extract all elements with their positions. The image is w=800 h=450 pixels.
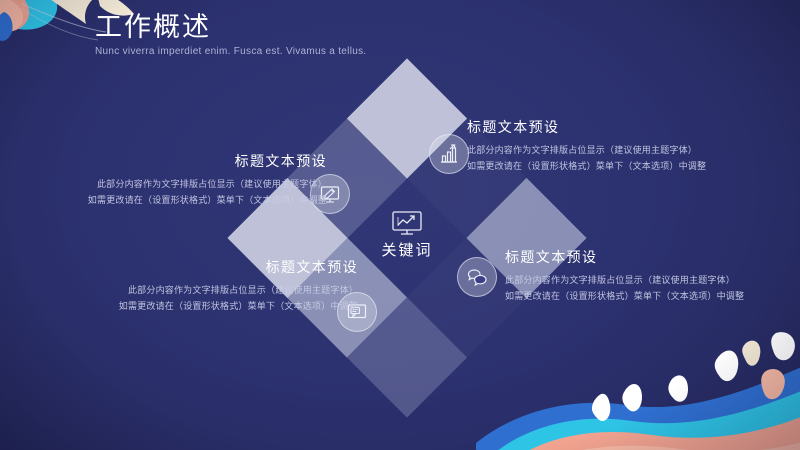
node-body-line-2: 如需更改请在（设置形状格式）菜单下（文本选项）中调整 (505, 289, 767, 303)
node-body-line-2: 如需更改请在（设置形状格式）菜单下（文本选项）中调整 (467, 159, 745, 173)
presentation-chart-icon (390, 210, 424, 236)
node-body-line-2: 如需更改请在（设置形状格式）菜单下（文本选项）中调整 (55, 193, 327, 207)
node-heading: 标题文本预设 (80, 258, 358, 276)
center-keyword-label: 关键词 (337, 242, 477, 260)
node-body-line-2: 如需更改请在（设置形状格式）菜单下（文本选项）中调整 (80, 299, 358, 313)
paint-splash-bottom-left-icon (0, 370, 110, 450)
node-text-bottom-left: 标题文本预设 此部分内容作为文字排版占位显示（建议使用主题字体） 如需更改请在（… (80, 258, 358, 313)
slide-canvas: 工作概述 Nunc viverra imperdiet enim. Fusca … (0, 0, 800, 450)
node-body-line-1: 此部分内容作为文字排版占位显示（建议使用主题字体） (505, 273, 767, 287)
bar-chart-growth-icon (438, 143, 460, 165)
node-badge-bottom-right[interactable] (457, 257, 497, 297)
page-subtitle: Nunc viverra imperdiet enim. Fusca est. … (95, 45, 366, 59)
node-heading: 标题文本预设 (505, 248, 767, 266)
center-node: 关键词 (337, 210, 477, 260)
node-body-line-1: 此部分内容作为文字排版占位显示（建议使用主题字体） (80, 283, 358, 297)
node-body-line-1: 此部分内容作为文字排版占位显示（建议使用主题字体） (467, 143, 745, 157)
paint-splash-bottom-right-icon (476, 293, 800, 450)
node-heading: 标题文本预设 (55, 152, 327, 170)
node-text-top-right: 标题文本预设 此部分内容作为文字排版占位显示（建议使用主题字体） 如需更改请在（… (467, 118, 745, 173)
node-body-line-1: 此部分内容作为文字排版占位显示（建议使用主题字体） (55, 177, 327, 191)
node-text-left: 标题文本预设 此部分内容作为文字排版占位显示（建议使用主题字体） 如需更改请在（… (55, 152, 327, 207)
node-badge-top-right[interactable] (429, 134, 469, 174)
double-speech-bubble-icon (466, 266, 488, 288)
node-heading: 标题文本预设 (467, 118, 745, 136)
page-title: 工作概述 (95, 10, 366, 44)
slide-header: 工作概述 Nunc viverra imperdiet enim. Fusca … (95, 10, 366, 59)
node-text-bottom-right: 标题文本预设 此部分内容作为文字排版占位显示（建议使用主题字体） 如需更改请在（… (505, 248, 767, 303)
